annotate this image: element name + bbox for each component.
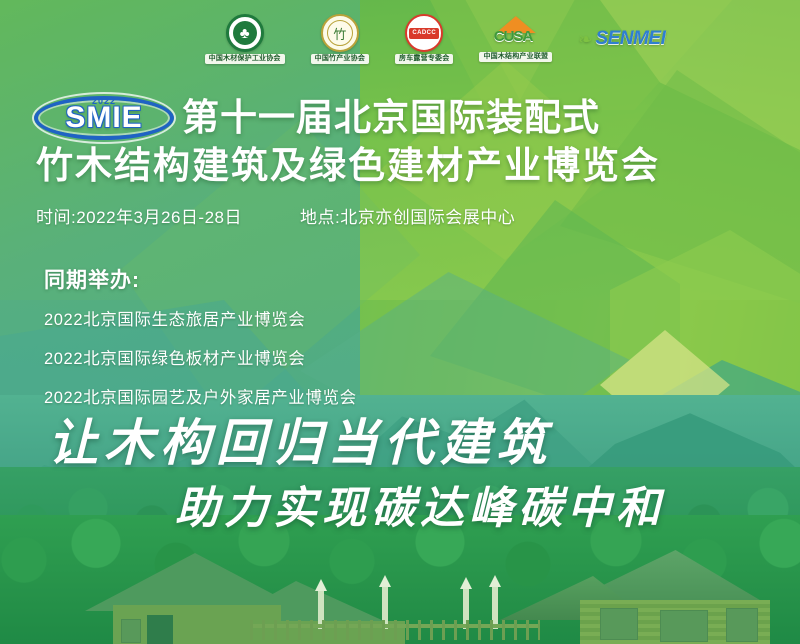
tree-seal-icon: ♣ [226,14,264,52]
cadcc-seal-icon: CADCC [405,14,443,52]
smie-wordmark: SMIE [65,103,142,133]
logo-china-wood-protection-industry-association[interactable]: ♣ 中国木材保护工业协会 [205,14,285,64]
deck-railing [250,620,540,640]
concurrent-item: 2022北京国际生态旅居产业博览会 [44,306,357,330]
concurrent-heading: 同期举办: [44,264,357,294]
cabin-window-far [726,608,758,642]
event-meta: 时间:2022年3月26日-28日 地点:北京亦创国际会展中心 [36,203,756,228]
concurrent-item: 2022北京国际园艺及户外家居产业博览会 [44,384,357,408]
logo-label: 中国木材保护工业协会 [205,54,285,64]
logo-label: 房车露营专委会 [395,54,453,64]
page-title-line1: 第十一届北京国际装配式 [182,99,600,138]
tree-glyph: ♣ [240,26,250,41]
slogan-line2: 助力实现碳达峰碳中和 [175,487,665,531]
concurrent-events: 同期举办: 2022北京国际生态旅居产业博览会 2022北京国际绿色板材产业博览… [44,264,357,423]
logo-cusa[interactable]: CUSA 中国木结构产业联盟 [479,16,552,62]
cabin-window-right [660,610,708,642]
cusa-abbr: CUSA [494,28,533,45]
slogan-line1: 让木构回归当代建筑 [48,418,552,468]
exhibition-banner: ♣ 中国木材保护工业协会 竹 中国竹产业协会 CADCC 房车露营专委会 CUS… [0,0,800,644]
bamboo-seal-icon: 竹 [321,14,359,52]
logo-cadcc-rv-camping-committee[interactable]: CADCC 房车露营专委会 [395,14,453,64]
title-block: 2022 SMIE 第十一届北京国际装配式 竹木结构建筑及绿色建材产业博览会 [0,92,800,187]
logo-bamboo-industry-association[interactable]: 竹 中国竹产业协会 [311,14,369,64]
senmei-wordmark: SENMEI [596,28,666,50]
cabin-door [147,615,173,644]
event-date: 时间:2022年3月26日-28日 [36,203,242,228]
cadcc-abbr: CADCC [409,28,439,39]
bamboo-glyph: 竹 [333,24,346,43]
organiser-logo-strip: ♣ 中国木材保护工业协会 竹 中国竹产业协会 CADCC 房车露营专委会 CUS… [0,0,800,78]
event-venue: 地点:北京亦创国际会展中心 [300,203,515,228]
logo-label: 中国竹产业协会 [311,54,369,64]
house-roof-icon: CUSA [488,16,544,50]
page-title-line2: 竹木结构建筑及绿色建材产业博览会 [36,146,800,187]
logo-senmei[interactable]: ❧ SENMEI [578,28,665,50]
smie-logo[interactable]: 2022 SMIE [34,94,174,142]
cabin-window [121,619,141,643]
concurrent-item: 2022北京国际绿色板材产业博览会 [44,345,357,369]
logo-label: 中国木结构产业联盟 [479,52,552,62]
leaf-icon: ❧ [578,31,592,48]
wooden-cabin-right [500,550,800,644]
cabin-window-left [600,608,638,640]
